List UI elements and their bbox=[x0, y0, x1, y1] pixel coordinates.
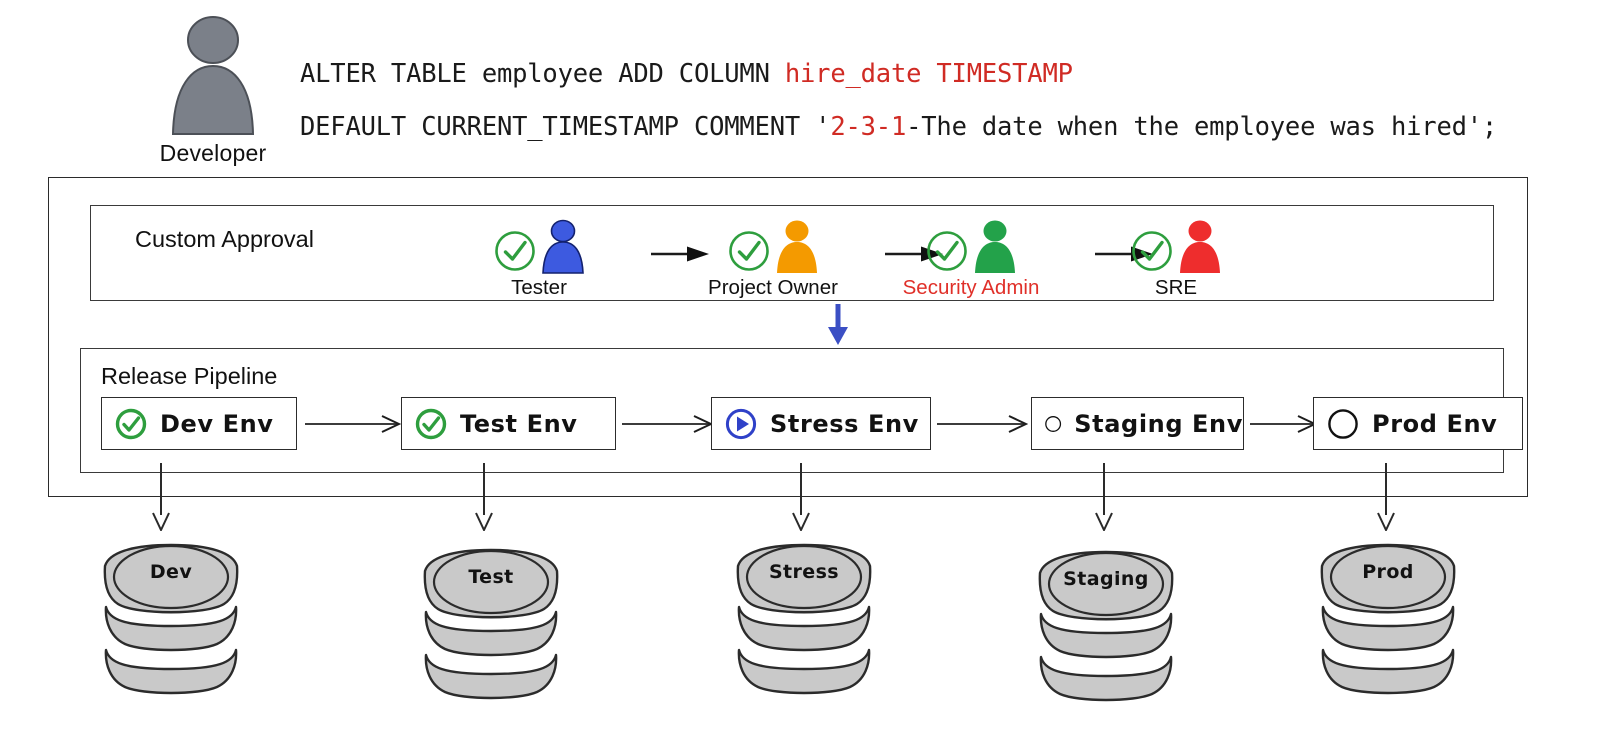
approver-tester[interactable]: Tester bbox=[444, 214, 634, 300]
arrow-right-icon bbox=[621, 415, 713, 433]
sql-line-2: DEFAULT CURRENT_TIMESTAMP COMMENT '2-3-1… bbox=[300, 101, 1497, 154]
custom-approval-panel: Custom Approval Tester bbox=[90, 205, 1494, 301]
sql-line-1-highlight: hire_date TIMESTAMP bbox=[785, 59, 1073, 89]
arrow-down-icon bbox=[824, 302, 852, 346]
pipeline-stage-label: Staging Env bbox=[1074, 410, 1243, 438]
play-circle-icon bbox=[724, 407, 758, 441]
database-cylinder-icon bbox=[91, 533, 251, 698]
person-icon bbox=[971, 218, 1019, 274]
sql-line-2-tail: -The date when the employee was hired'; bbox=[906, 112, 1497, 142]
approver-role-label: Tester bbox=[444, 276, 634, 300]
check-circle-icon bbox=[114, 407, 148, 441]
pipeline-stage-label: Stress Env bbox=[770, 410, 919, 438]
arrow-down-icon bbox=[150, 463, 172, 531]
pipeline-stages: Dev Env Test Env bbox=[81, 397, 1505, 459]
arrow-down-icon bbox=[1375, 463, 1397, 531]
approver-sre[interactable]: SRE bbox=[1081, 214, 1271, 300]
database-prod[interactable]: Prod bbox=[1308, 533, 1468, 698]
pipeline-stage-label: Prod Env bbox=[1372, 410, 1497, 438]
database-stress[interactable]: Stress bbox=[724, 533, 884, 698]
pipeline-stage-label: Test Env bbox=[460, 410, 578, 438]
arrow-right-icon bbox=[936, 415, 1028, 433]
database-test[interactable]: Test bbox=[411, 538, 571, 703]
pipeline-stage-prod-env[interactable]: Prod Env bbox=[1313, 397, 1523, 450]
arrow-down-icon bbox=[790, 463, 812, 531]
approver-role-label: Security Admin bbox=[876, 276, 1066, 300]
person-icon bbox=[1176, 218, 1224, 274]
database-staging[interactable]: Staging bbox=[1026, 540, 1186, 705]
arrow-down-icon bbox=[473, 463, 495, 531]
sql-statement: ALTER TABLE employee ADD COLUMN hire_dat… bbox=[300, 48, 1497, 154]
database-cylinder-icon bbox=[1308, 533, 1468, 698]
check-circle-icon bbox=[414, 407, 448, 441]
pipeline-stage-test-env[interactable]: Test Env bbox=[401, 397, 616, 450]
sql-line-2-highlight: 2-3-1 bbox=[830, 112, 906, 142]
database-cylinder-icon bbox=[1026, 540, 1186, 705]
check-circle-icon bbox=[492, 228, 538, 274]
pipeline-stage-staging-env[interactable]: Staging Env bbox=[1031, 397, 1244, 450]
person-icon bbox=[539, 218, 587, 274]
approver-glyphs bbox=[1081, 214, 1271, 274]
release-pipeline-title: Release Pipeline bbox=[101, 363, 277, 390]
sql-line-1-text: ALTER TABLE employee ADD COLUMN bbox=[300, 59, 785, 89]
release-pipeline-panel: Release Pipeline Dev Env Tes bbox=[80, 348, 1504, 473]
approver-glyphs bbox=[876, 214, 1066, 274]
workflow-container: Custom Approval Tester bbox=[48, 177, 1528, 497]
arrow-down-icon bbox=[1093, 463, 1115, 531]
pipeline-stage-stress-env[interactable]: Stress Env bbox=[711, 397, 931, 450]
empty-circle-icon bbox=[1044, 407, 1062, 441]
approver-role-label: Project Owner bbox=[678, 276, 868, 300]
empty-circle-icon bbox=[1326, 407, 1360, 441]
sql-line-1: ALTER TABLE employee ADD COLUMN hire_dat… bbox=[300, 48, 1497, 101]
check-circle-icon bbox=[726, 228, 772, 274]
check-circle-icon bbox=[1129, 228, 1175, 274]
database-cylinder-icon bbox=[724, 533, 884, 698]
approver-security-admin[interactable]: Security Admin bbox=[876, 214, 1066, 300]
developer-label: Developer bbox=[148, 140, 278, 167]
approver-glyphs bbox=[444, 214, 634, 274]
person-icon bbox=[773, 218, 821, 274]
approver-project-owner[interactable]: Project Owner bbox=[678, 214, 868, 300]
sql-line-2-text: DEFAULT CURRENT_TIMESTAMP COMMENT ' bbox=[300, 112, 830, 142]
approver-role-label: SRE bbox=[1081, 276, 1271, 300]
approver-glyphs bbox=[678, 214, 868, 274]
pipeline-stage-label: Dev Env bbox=[160, 410, 274, 438]
developer-actor: Developer bbox=[148, 14, 278, 167]
check-circle-icon bbox=[924, 228, 970, 274]
person-icon bbox=[161, 14, 265, 136]
database-cylinder-icon bbox=[411, 538, 571, 703]
pipeline-stage-dev-env[interactable]: Dev Env bbox=[101, 397, 297, 450]
arrow-right-icon bbox=[304, 415, 401, 433]
arrow-right-icon bbox=[1249, 415, 1317, 433]
custom-approval-title: Custom Approval bbox=[135, 226, 314, 253]
approval-chain: Tester Project Owner bbox=[421, 214, 1481, 302]
database-dev[interactable]: Dev bbox=[91, 533, 251, 698]
